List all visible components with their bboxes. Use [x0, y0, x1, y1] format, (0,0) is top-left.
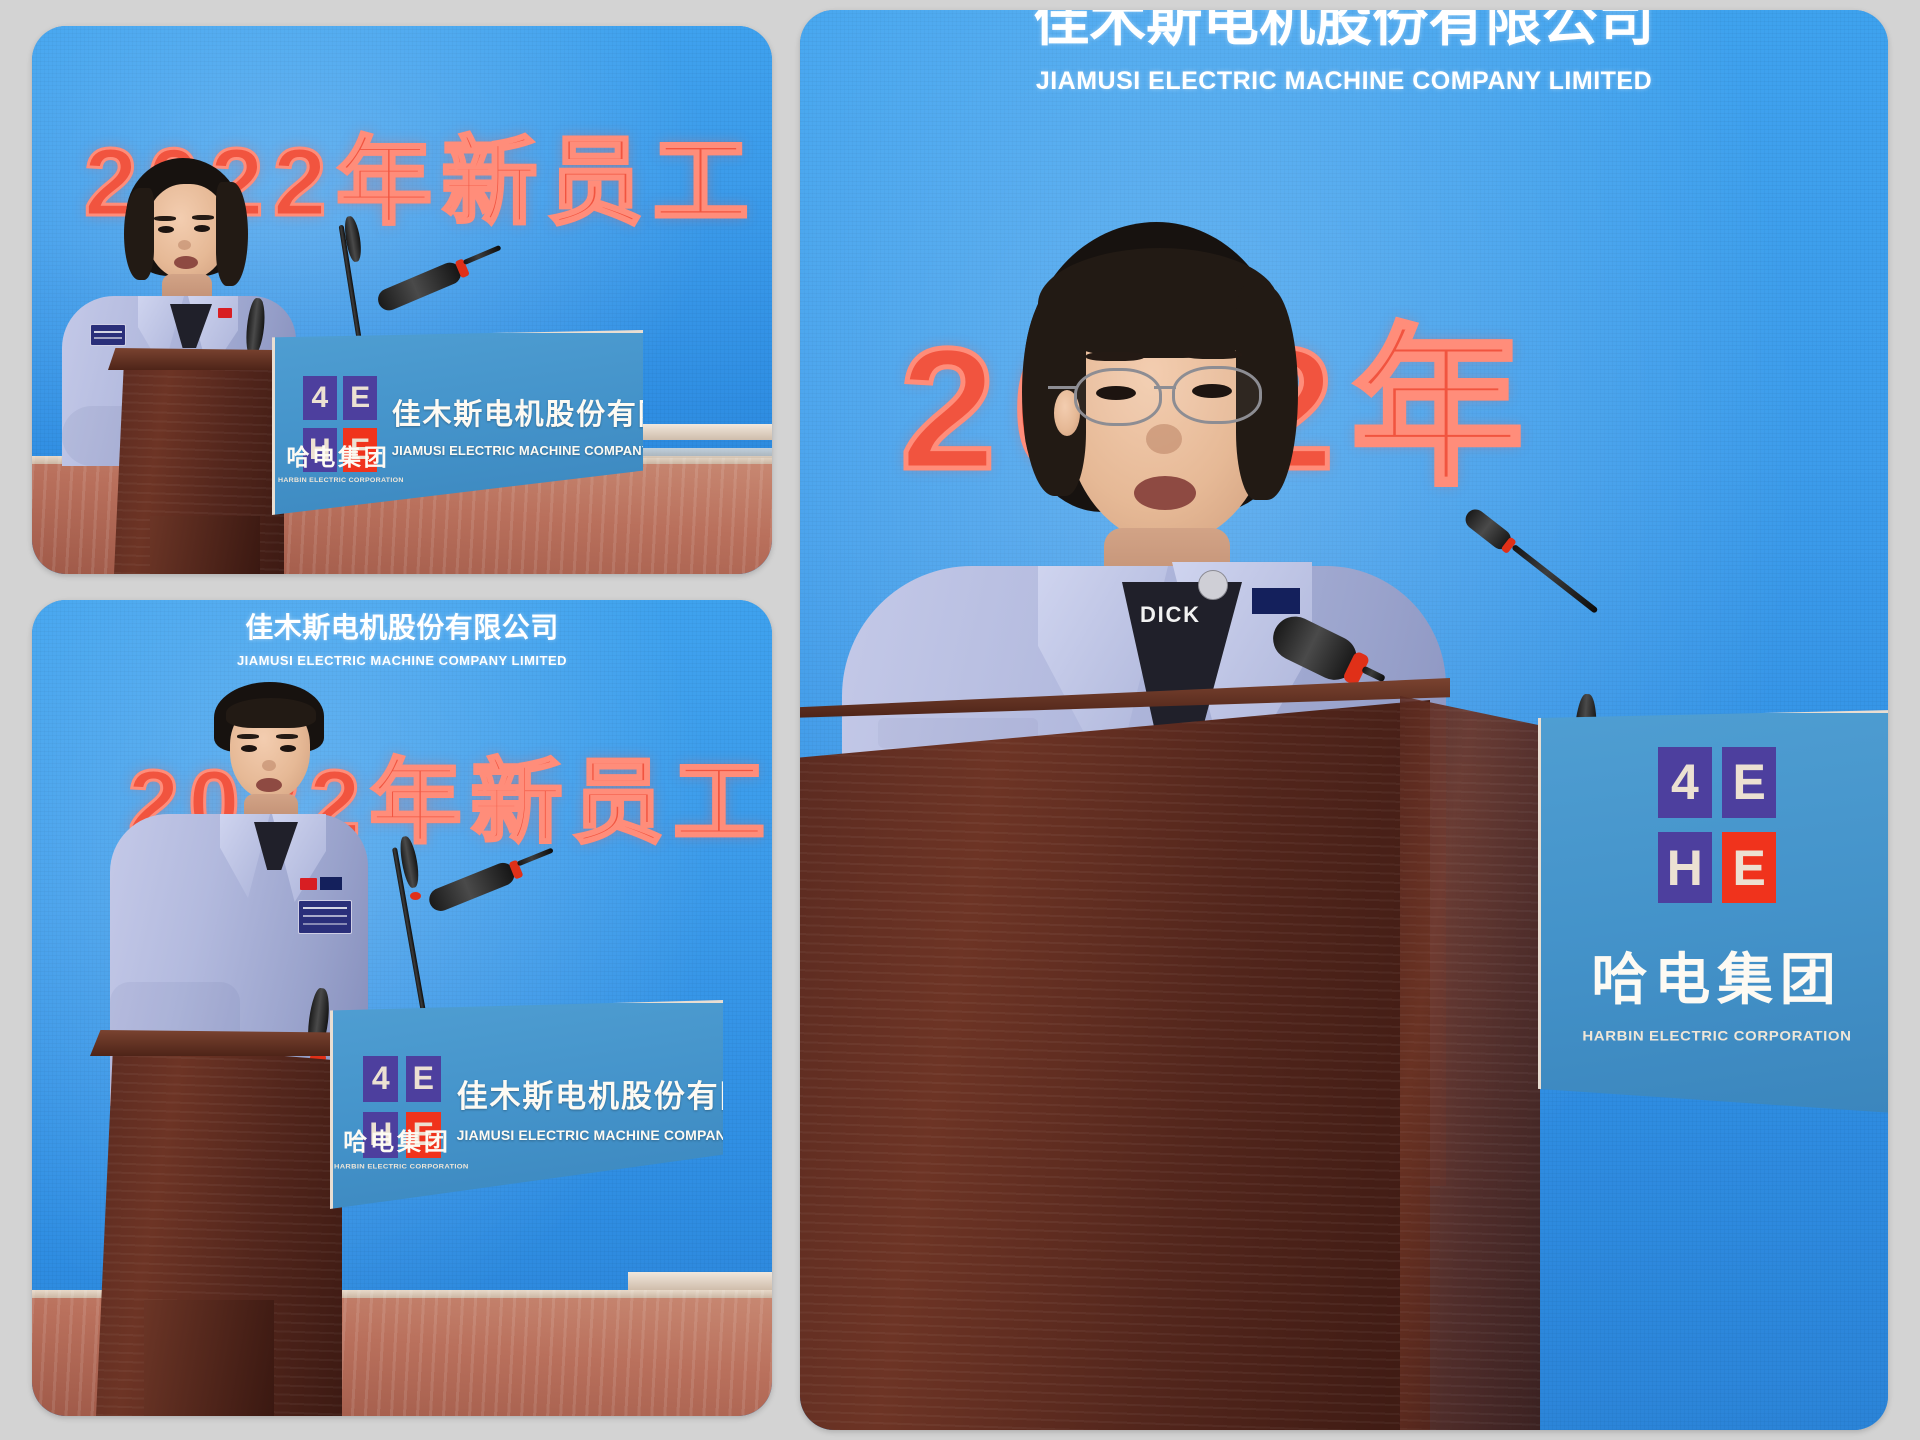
tshirt-text: DICK — [1140, 602, 1201, 628]
sign-group-block: 哈电集团 HARBIN ELECTRIC CORPORATION — [334, 1122, 460, 1171]
sign-company-en: JIAMUSI ELECTRIC MACHINE COMPANY LIMITED — [457, 1127, 723, 1143]
podium-front-right — [1400, 696, 1540, 1430]
group-name-cn: 哈电集团 — [1541, 935, 1888, 1016]
name-badge — [90, 324, 126, 346]
sign-group-block: 哈电集团 HARBIN ELECTRIC CORPORATION — [278, 438, 398, 484]
podium-front-left — [800, 700, 1430, 1430]
sign-company-en: JIAMUSI ELECTRIC MACHINE COMPANY LIMITED — [392, 443, 643, 458]
nose — [178, 240, 191, 250]
led-header-en: JIAMUSI ELECTRIC MACHINE COMPANY LIMITED — [800, 67, 1888, 96]
eyebrow-right — [192, 215, 214, 220]
he-logo: 4 E H E — [1658, 747, 1776, 903]
logo-quadrant-tr: E — [1722, 747, 1776, 818]
logo-quadrant-tr: E — [406, 1056, 442, 1102]
group-name-en: HARBIN ELECTRIC CORPORATION — [278, 477, 398, 483]
podium-base — [150, 516, 260, 574]
logo-quadrant-tl: 4 — [303, 376, 337, 420]
led-header: 佳木斯电机股份有限公司 JIAMUSI ELECTRIC MACHINE COM… — [800, 10, 1888, 96]
background-desk — [628, 1272, 772, 1290]
logo-quadrant-bl: H — [1658, 832, 1712, 903]
led-header: 佳木斯电机股份有限公司 JIAMUSI ELECTRIC MACHINE COM… — [32, 606, 772, 668]
photo-top-left: 2022年新员工 — [32, 26, 772, 574]
photo-bottom-left: 佳木斯电机股份有限公司 JIAMUSI ELECTRIC MACHINE COM… — [32, 600, 772, 1416]
nose — [1146, 424, 1182, 454]
logo-letter-4: 4 — [1658, 747, 1712, 818]
logo-letter-E: E — [1722, 747, 1776, 818]
sign-text-block: 佳木斯电机股份有限公司 JIAMUSI ELECTRIC MACHINE COM… — [441, 1071, 723, 1143]
led-header-cn: 佳木斯电机股份有限公司 — [32, 606, 772, 646]
sign-company-cn: 佳木斯电机股份有限公司 — [457, 1071, 723, 1116]
sign-logo-block: 4 E H E — [1541, 747, 1888, 903]
badge-line — [303, 923, 347, 925]
hair-side-right — [216, 182, 248, 286]
uniform-button — [1198, 570, 1228, 600]
led-header-cn: 佳木斯电机股份有限公司 — [800, 10, 1888, 57]
name-badge — [298, 900, 352, 934]
logo-letter-4: 4 — [303, 376, 337, 420]
eyebrow-left — [154, 216, 176, 221]
badge-line — [94, 337, 123, 339]
eyeglasses-bridge — [1154, 386, 1176, 389]
group-name-en: HARBIN ELECTRIC CORPORATION — [334, 1162, 460, 1170]
sign-company-cn: 佳木斯电机股份有限公司 — [392, 391, 643, 433]
logo-quadrant-tr: E — [343, 376, 377, 420]
badge-line — [303, 915, 347, 917]
mouth — [174, 256, 198, 269]
group-name-cn: 哈电集团 — [334, 1122, 460, 1157]
photo-right: 佳木斯电机股份有限公司 JIAMUSI ELECTRIC MACHINE COM… — [800, 10, 1888, 1430]
podium-desktop — [108, 348, 294, 370]
podium-desktop — [90, 1030, 352, 1056]
podium-sign: 4 E H E 哈电集团 HARB — [1538, 710, 1888, 1113]
eye-right — [194, 225, 210, 232]
logo-letter-E2: E — [1722, 832, 1776, 903]
logo-quadrant-tl: 4 — [363, 1056, 398, 1102]
mic-red-ring — [410, 892, 421, 900]
eyebrow-left — [237, 734, 259, 739]
photo-collage: 2022年新员工 — [0, 0, 1920, 1440]
logo-quadrant-tl: 4 — [1658, 747, 1712, 818]
badge-line — [303, 907, 347, 909]
sign-text-block: 佳木斯电机股份有限公司 JIAMUSI ELECTRIC MACHINE COM… — [377, 391, 643, 458]
logo-quadrant-br: E — [1722, 832, 1776, 903]
podium-base — [144, 1300, 274, 1416]
flag-pin — [300, 878, 317, 890]
group-name-en: HARBIN ELECTRIC CORPORATION — [1541, 1029, 1888, 1044]
hair-side-left — [124, 188, 154, 280]
sign-group-block: 哈电集团 HARBIN ELECTRIC CORPORATION — [1541, 935, 1888, 1045]
eye-left — [1096, 386, 1136, 400]
eye-left — [241, 745, 257, 752]
mouth — [256, 778, 282, 792]
logo-letter-4: 4 — [363, 1056, 398, 1102]
badge-line — [94, 331, 123, 333]
logo-letter-E: E — [406, 1056, 442, 1102]
mic-head — [244, 297, 267, 356]
nose — [262, 760, 276, 771]
eye-right — [1192, 384, 1232, 398]
group-name-cn: 哈电集团 — [278, 438, 398, 472]
led-header-en: JIAMUSI ELECTRIC MACHINE COMPANY LIMITED — [32, 653, 772, 668]
hair-fringe — [226, 698, 316, 728]
eyebrow-left — [1086, 352, 1144, 361]
eyeglasses-temple — [1048, 386, 1078, 389]
mic-stem — [1361, 666, 1386, 683]
flag-pin — [218, 308, 232, 318]
mouth — [1134, 476, 1196, 510]
uniform-logo-pin — [1252, 588, 1300, 614]
eyebrow-right — [1184, 350, 1242, 359]
eye-right — [280, 745, 296, 752]
eyebrow-right — [276, 734, 298, 739]
logo-letter-E: E — [343, 376, 377, 420]
eye-left — [158, 226, 174, 233]
logo-letter-H: H — [1658, 832, 1712, 903]
uniform-logo-pin — [320, 877, 342, 890]
